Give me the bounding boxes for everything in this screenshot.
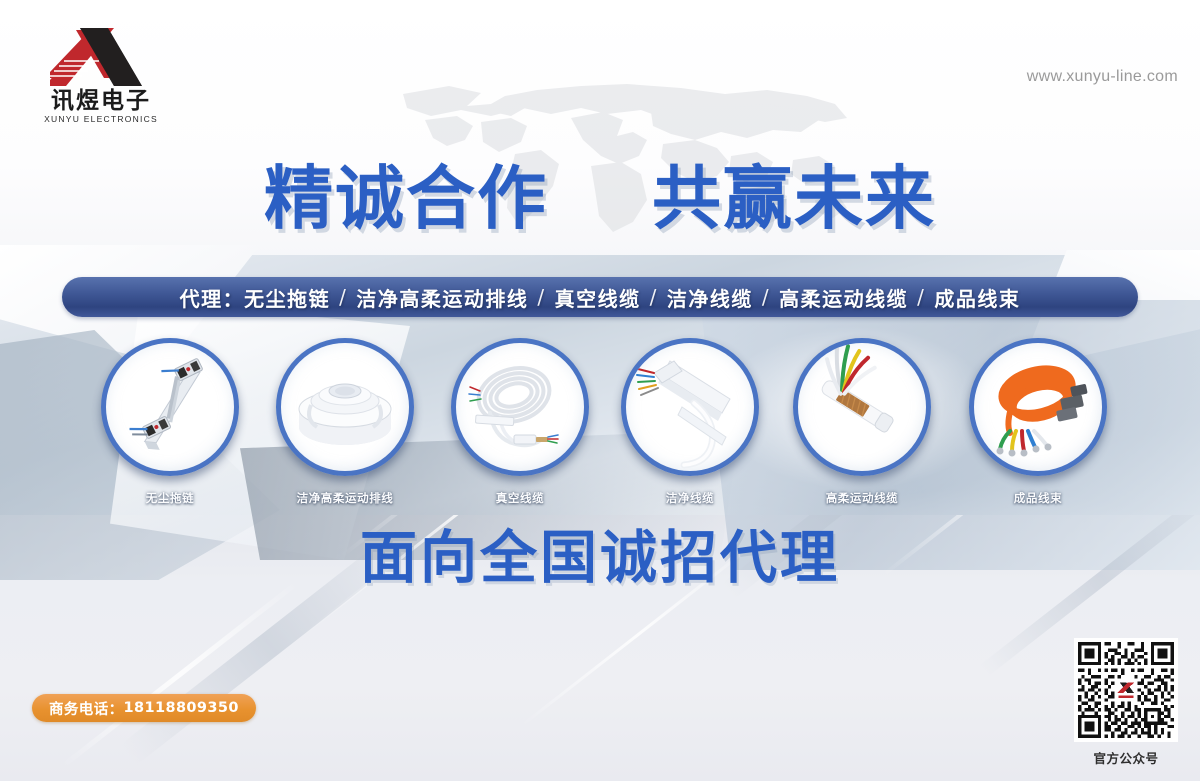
logo-name-en: XUNYU ELECTRONICS — [36, 114, 166, 124]
product-item-5[interactable]: 成品线束 — [958, 338, 1118, 506]
orange-harness-icon — [974, 343, 1102, 471]
product-item-0[interactable]: 无尘拖链 — [90, 338, 250, 506]
clean-room-cable-icon — [626, 343, 754, 471]
agency-item-4: 高柔运动线缆 — [779, 283, 908, 312]
business-phone-badge[interactable]: 商务电话： 18118809350 — [32, 694, 256, 722]
agency-product-bar: 代理： 无尘拖链 / 洁净高柔运动排线 / 真空线缆 / 洁净线缆 / 高柔运动… — [62, 277, 1138, 317]
product-item-4[interactable]: 高柔运动线缆 — [782, 338, 942, 506]
agency-separator: / — [641, 285, 667, 309]
agency-item-0: 无尘拖链 — [244, 283, 330, 312]
product-item-1[interactable]: 洁净高柔运动排线 — [265, 338, 425, 506]
company-logo[interactable]: 讯煜电子 XUNYU ELECTRONICS — [36, 26, 166, 124]
website-url[interactable]: www.xunyu-line.com — [1027, 68, 1178, 86]
product-circle-row: 无尘拖链 洁净高柔运动排线 — [0, 338, 1200, 513]
agency-item-3: 洁净线缆 — [667, 283, 753, 312]
flat-ribbon-coil-icon — [281, 343, 409, 471]
business-phone-label: 商务电话： — [49, 698, 124, 719]
product-item-2[interactable]: 真空线缆 — [440, 338, 600, 506]
product-item-3[interactable]: 洁净线缆 — [610, 338, 770, 506]
business-phone-number: 18118809350 — [124, 700, 239, 716]
product-circle-3[interactable] — [621, 338, 759, 476]
agency-separator: / — [528, 285, 554, 309]
product-label-5: 成品线束 — [958, 490, 1118, 506]
xunyu-x-logo-icon — [36, 26, 166, 88]
logo-name-cn: 讯煜电子 — [36, 89, 166, 113]
product-label-4: 高柔运动线缆 — [782, 490, 942, 506]
main-headline: 精诚合作 共赢未来 — [0, 165, 1200, 234]
product-circle-2[interactable] — [451, 338, 589, 476]
product-circle-5[interactable] — [969, 338, 1107, 476]
headline-part-2: 共赢未来 — [652, 159, 936, 239]
product-label-3: 洁净线缆 — [610, 490, 770, 506]
product-circle-0[interactable] — [101, 338, 239, 476]
agency-separator: / — [753, 285, 779, 309]
product-label-1: 洁净高柔运动排线 — [265, 490, 425, 506]
official-account-qr[interactable]: 官方公众号 — [1070, 638, 1182, 767]
flex-motion-cable-icon — [798, 343, 926, 471]
agency-item-1: 洁净高柔运动排线 — [356, 283, 528, 312]
product-label-0: 无尘拖链 — [90, 490, 250, 506]
qr-caption: 官方公众号 — [1070, 748, 1182, 767]
promo-banner: 讯煜电子 XUNYU ELECTRONICS www.xunyu-line.co… — [0, 0, 1200, 781]
headline-part-1: 精诚合作 — [264, 159, 548, 239]
agency-prefix: 代理： — [180, 283, 245, 312]
agency-item-5: 成品线束 — [934, 283, 1020, 312]
agency-separator: / — [908, 285, 934, 309]
product-label-2: 真空线缆 — [440, 490, 600, 506]
agency-separator: / — [330, 285, 356, 309]
product-circle-1[interactable] — [276, 338, 414, 476]
product-circle-4[interactable] — [793, 338, 931, 476]
qr-code-icon — [1074, 638, 1178, 742]
cta-headline: 面向全国诚招代理 — [0, 530, 1200, 587]
agency-item-2: 真空线缆 — [555, 283, 641, 312]
vacuum-cable-coil-icon — [456, 343, 584, 471]
cable-drag-chain-icon — [106, 343, 234, 471]
